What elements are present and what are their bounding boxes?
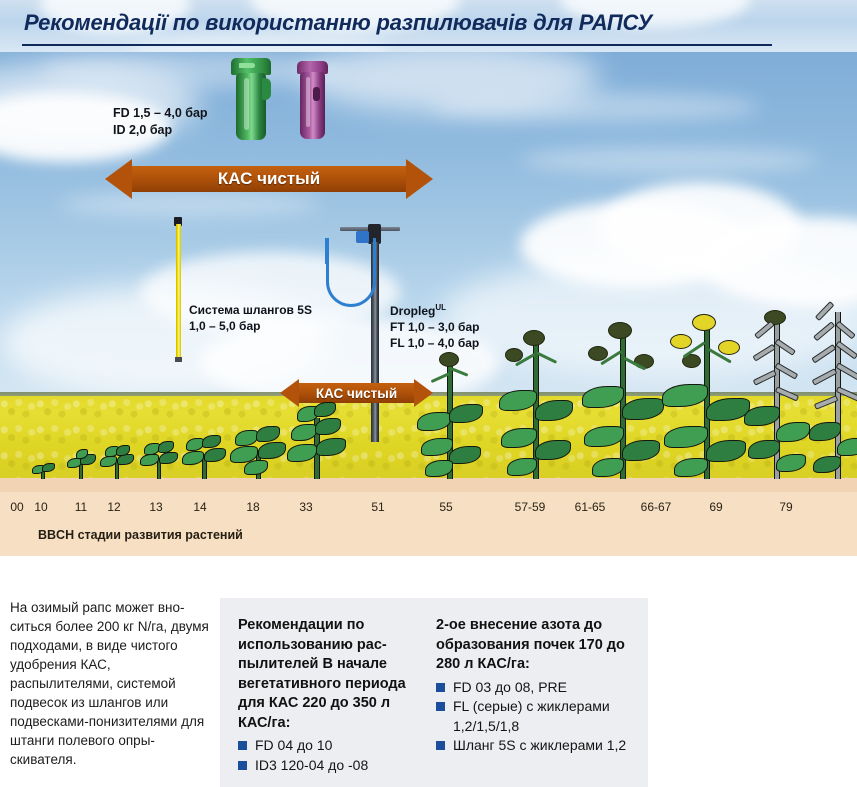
plant-leaf [417,412,451,431]
intro-paragraph: На озимый рапс может вно-ситься более 20… [10,598,210,769]
recommendation-heading-1: Рекомендации по использованию рас-пылите… [238,616,424,733]
green-nozzle [229,58,273,140]
bbch-stage-18: 18 [246,500,259,514]
bullet-square-icon [436,683,445,692]
plant-leaf [315,418,341,435]
bbch-stage-13: 13 [149,500,162,514]
arrow-kas-top: КАС чистый [105,159,433,199]
bullet-square-icon [436,741,445,750]
bullet-square-icon [238,741,247,750]
list-item-label: ID3 120-04 до -08 [255,757,368,773]
purple-nozzle [296,61,330,139]
list-item: FD 04 до 10 [238,736,424,756]
nozzle-pressure-id: ID 2,0 бар [113,122,208,139]
plant-leaf [287,444,317,462]
plant-leaf [622,398,664,420]
bbch-stage-61-65: 61-65 [575,500,606,514]
list-item: ID3 120-04 до -08 [238,756,424,776]
plant-leaf [664,426,708,448]
bbch-stage-66-67: 66-67 [641,500,672,514]
plant-leaf [499,390,537,411]
plant-flower [670,334,692,349]
nozzle-pressure-fd: FD 1,5 – 4,0 бар [113,105,208,122]
dropleg-name: DroplegUL [390,300,479,319]
green-nozzle-highlight [244,78,249,130]
bbch-stage-55: 55 [439,500,452,514]
list-item: FL (серые) с жиклерами 1,2/1,5/1,8 [436,697,636,736]
page-title: Рекомендації по використанню разпилювачі… [24,10,824,36]
plant-leaf [622,440,660,461]
purple-nozzle-body [300,72,325,139]
bbch-stage-69: 69 [709,500,722,514]
header-banner: Рекомендації по використанню разпилювачі… [0,0,857,52]
plant-branch [536,351,557,363]
nozzle-pressure-label: FD 1,5 – 4,0 бар ID 2,0 бар [113,105,208,139]
list-item: FD 03 до 08, PRE [436,678,636,698]
plant-leaf [42,463,55,472]
plant-leaf [159,452,178,464]
plant-stage-57-59 [580,320,666,479]
plant-stage-13 [140,440,178,479]
illustration-scene: FD 1,5 – 4,0 бар ID 2,0 бар КАС чистый С… [0,52,857,492]
list-item-label: Шланг 5S с жиклерами 1,2 [453,737,626,753]
plant-stage-79 [805,306,857,479]
dropleg-hose-loop [326,238,376,307]
purple-nozzle-highlight [306,77,310,127]
arrow-top-head-right [406,159,433,199]
recommendation-heading-2: 2-ое внесение азота до образования почек… [436,616,636,675]
dropleg-ft-pressure: FT 1,0 – 3,0 бар [390,319,479,335]
bbch-axis: 0010111213141833515557-5961-6566-676979 … [0,492,857,556]
plant-leaf [662,384,708,407]
plant-leaf [501,428,537,448]
cloud-wisp [430,92,760,122]
hose-5s-label: Система шлангов 5S 1,0 – 5,0 бар [189,302,312,334]
bbch-stage-10: 10 [34,500,47,514]
cloud-wisp [40,52,340,88]
bbch-stage-57-59: 57-59 [515,500,546,514]
plant-pod [752,344,776,362]
plant-leaf [314,402,336,417]
purple-nozzle-notch [313,87,320,101]
bullet-square-icon [238,761,247,770]
bbch-stage-51: 51 [371,500,384,514]
plant-flower [692,314,716,331]
plant-leaf [449,446,481,464]
dropleg-label: DroplegUL FT 1,0 – 3,0 бар FL 1,0 – 4,0 … [390,300,479,351]
bbch-stage-12: 12 [107,500,120,514]
plant-leaf [256,426,280,442]
hose-5s-pole [176,224,181,362]
plant-leaf [674,458,708,477]
plant-leaf [535,440,571,460]
plant-stage-12 [100,444,134,479]
green-nozzle-tab [262,78,271,100]
plant-stage-33 [285,400,347,479]
recommendation-column-1: Рекомендации по использованию рас-пылите… [238,616,424,775]
plant-leaf [235,430,258,446]
green-nozzle-slot [239,63,255,68]
plant-stage-10 [30,457,56,479]
hose-5s-pressure: 1,0 – 5,0 бар [189,318,312,334]
recommendations-panel: Рекомендации по использованию рас-пылите… [220,598,648,787]
plant-pod [812,368,838,386]
bbch-axis-caption: BBCH стадии развития растений [38,528,243,542]
recommendation-column-2: 2-ое внесение азота до образования почек… [436,616,636,756]
dropleg-fl-pressure: FL 1,0 – 4,0 бар [390,335,479,351]
plant-bud [439,352,459,367]
arrow-top-label: КАС чистый [218,169,320,189]
plant-leaf [182,451,204,465]
plant-bud [523,330,545,346]
list-item-label: FL (серые) с жиклерами 1,2/1,5/1,8 [453,698,610,734]
plant-stage-11 [66,448,96,479]
bbch-stage-14: 14 [193,500,206,514]
list-item-label: FD 03 до 08, PRE [453,679,567,695]
plant-stage-51 [415,352,485,479]
bbch-stage-79: 79 [779,500,792,514]
plant-flower [718,340,740,355]
hose-5s-foot [175,357,182,362]
bbch-stage-00: 00 [10,500,23,514]
plant-stage-18 [230,424,286,479]
bottom-section: На озимый рапс может вно-ситься более 20… [0,556,857,787]
bbch-stage-33: 33 [299,500,312,514]
plant-leaf [584,426,624,447]
arrow-bottom-label: КАС чистый [316,386,397,401]
bbch-stage-11: 11 [75,500,87,514]
plant-stage-14 [182,434,226,479]
plant-leaf [776,454,806,472]
plant-leaf [316,438,346,456]
list-item: Шланг 5S с жиклерами 1,2 [436,736,636,756]
plant-bud [608,322,632,339]
plant-pod [811,344,836,364]
plant-leaf [535,400,573,421]
dropleg-superscript: UL [435,303,446,312]
plant-leaf [582,386,624,408]
plant-stage-55 [495,330,575,479]
plant-leaf [449,404,483,423]
plant-leaf [202,435,221,448]
plant-stage-69 [740,310,814,479]
dropleg-hose-feed [325,238,328,264]
plant-pod [754,321,775,340]
list-item-label: FD 04 до 10 [255,737,332,753]
arrow-top-head-left [105,159,132,199]
plant-leaf [258,442,286,459]
plant-stage-61-65 [660,314,752,479]
title-underline [22,44,772,46]
plant-leaf [244,460,268,475]
hose-5s-name: Система шлангов 5S [189,302,312,318]
plant-pod [813,321,835,341]
bullet-square-icon [436,702,445,711]
plant-leaf [204,448,226,462]
dropleg-name-text: Dropleg [390,304,435,318]
soil-strip [0,478,857,492]
cloud-wisp [520,147,820,173]
recommendation-list-1: FD 04 до 10 ID3 120-04 до -08 [238,736,424,775]
recommendation-list-2: FD 03 до 08, PRE FL (серые) с жиклерами … [436,678,636,756]
